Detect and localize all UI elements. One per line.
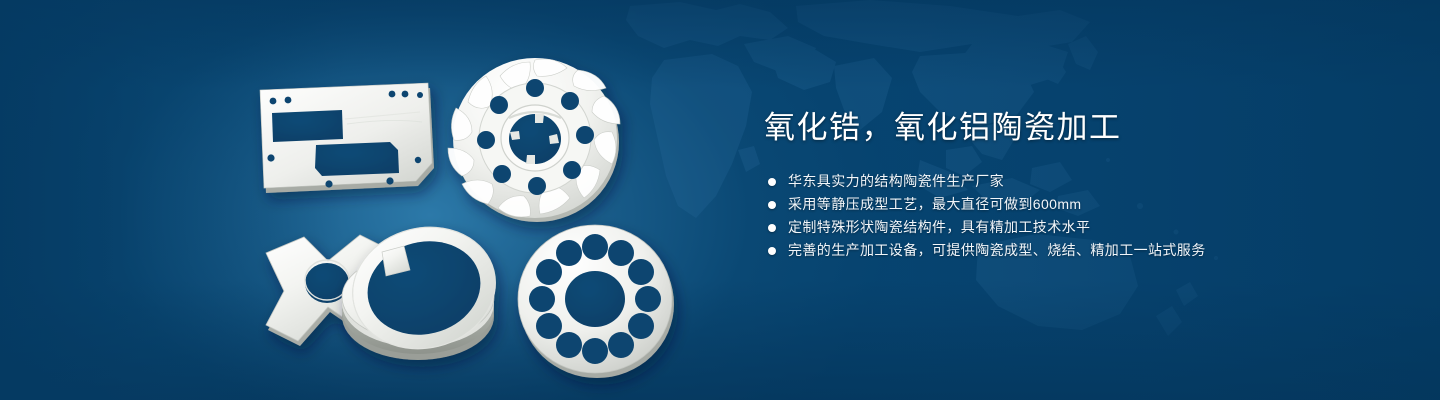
list-item-label: 完善的生产加工设备，可提供陶瓷成型、烧结、精加工一站式服务 xyxy=(788,242,1206,258)
bullet-dot-icon xyxy=(768,247,776,255)
part-ceramic-ring-stack xyxy=(340,212,509,363)
feature-list: 华东具实力的结构陶瓷件生产厂家 采用等静压成型工艺，最大直径可做到600mm 定… xyxy=(764,170,1384,262)
list-item-label: 定制特殊形状陶瓷结构件，具有精加工技术水平 xyxy=(788,219,1090,235)
part-ceramic-perforated-disc xyxy=(518,225,674,378)
ceramic-parts-photo xyxy=(0,0,740,400)
part-ceramic-bladed-impeller xyxy=(448,58,620,222)
list-item: 华东具实力的结构陶瓷件生产厂家 xyxy=(764,170,1384,193)
hero-banner: 氧化锆，氧化铝陶瓷加工 华东具实力的结构陶瓷件生产厂家 采用等静压成型工艺，最大… xyxy=(0,0,1440,400)
list-item: 定制特殊形状陶瓷结构件，具有精加工技术水平 xyxy=(764,216,1384,239)
list-item-label: 采用等静压成型工艺，最大直径可做到600mm xyxy=(788,196,1081,212)
page-title: 氧化锆，氧化铝陶瓷加工 xyxy=(764,108,1384,148)
banner-copy: 氧化锆，氧化铝陶瓷加工 华东具实力的结构陶瓷件生产厂家 采用等静压成型工艺，最大… xyxy=(764,108,1384,262)
part-ceramic-mounting-plate xyxy=(260,83,434,193)
list-item-label: 华东具实力的结构陶瓷件生产厂家 xyxy=(788,173,1004,189)
bullet-dot-icon xyxy=(768,224,776,232)
bullet-dot-icon xyxy=(768,178,776,186)
bullet-dot-icon xyxy=(768,201,776,209)
list-item: 采用等静压成型工艺，最大直径可做到600mm xyxy=(764,193,1384,216)
list-item: 完善的生产加工设备，可提供陶瓷成型、烧结、精加工一站式服务 xyxy=(764,239,1384,262)
